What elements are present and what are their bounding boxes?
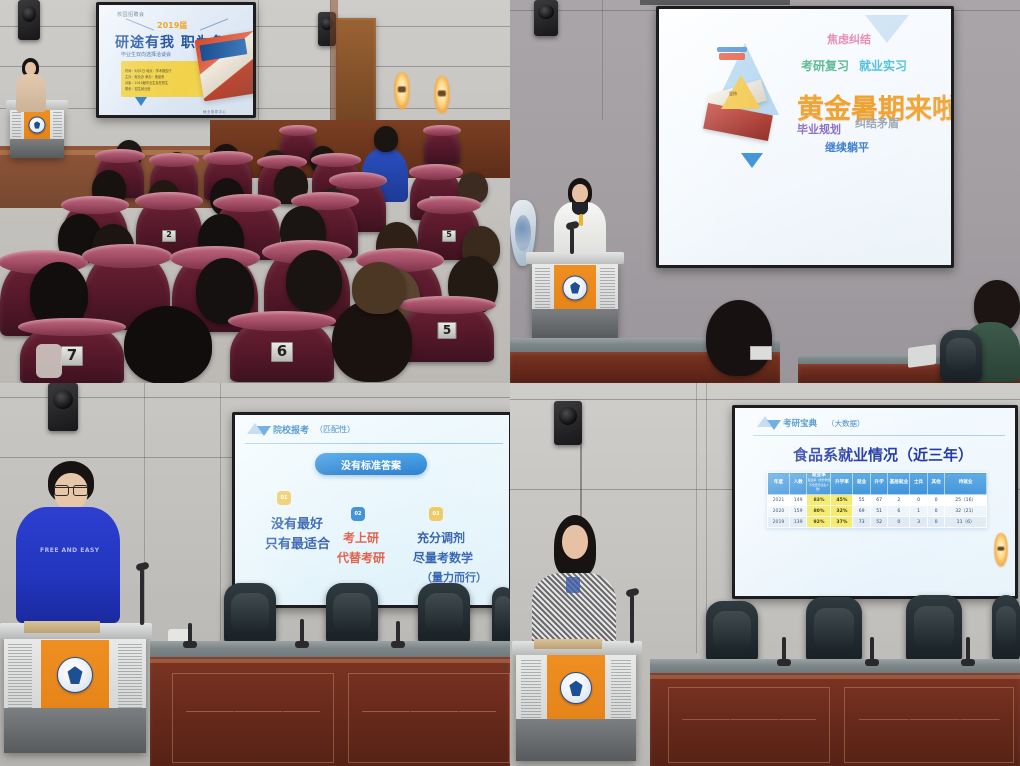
slide3-badge: 02 bbox=[351, 507, 365, 521]
stage-front bbox=[210, 120, 510, 178]
cell-soldier: 3 bbox=[910, 517, 928, 528]
col-employment-rate: 就业率 就业率（含升学但不含灵活就业人数） bbox=[807, 473, 831, 495]
col-other: 其他 bbox=[927, 473, 945, 495]
slide3-line: 充分调剂 bbox=[417, 529, 465, 546]
col-count: 人数 bbox=[789, 473, 807, 495]
office-chair bbox=[224, 583, 276, 645]
slide-school-selection: 院校报考 （匹配性） 没有标准答案 01 没有最好 只有最适合 02 考上研 代… bbox=[235, 415, 509, 605]
cell-year: 2021 bbox=[768, 495, 790, 506]
slide4-header: 考研宝典 bbox=[783, 417, 817, 429]
microphone-icon bbox=[188, 623, 192, 643]
slide4-header-note: （大数据） bbox=[827, 418, 865, 429]
seat-number-plate: 6 bbox=[271, 342, 293, 362]
employment-table: 年度 人数 就业率 就业率（含升学但不含灵活就业人数） 升学率 就业 升学 基层… bbox=[767, 472, 987, 528]
col-further-study: 升学 bbox=[870, 473, 888, 495]
cell-count: 159 bbox=[789, 506, 807, 517]
slide-golden-summer: 坚持 焦虑纠结 考研复习 就业实习 黄金暑期来啦！ 毕业规划 纠结矛盾 继续躺平 bbox=[659, 9, 951, 265]
wall-sconce-icon bbox=[994, 533, 1008, 567]
projection-screen: 坚持 焦虑纠结 考研复习 就业实习 黄金暑期来啦！ 毕业规划 纠结矛盾 继续躺平 bbox=[656, 6, 954, 268]
slide2-keyword: 焦虑纠结 bbox=[827, 31, 871, 47]
table-panel bbox=[668, 687, 830, 763]
cell-further-study-rate: 32% bbox=[831, 506, 853, 517]
cell-count: 149 bbox=[789, 495, 807, 506]
lectern-paper bbox=[534, 639, 602, 649]
microphone-icon bbox=[870, 637, 874, 661]
auditorium-seat bbox=[424, 128, 460, 164]
laptop bbox=[908, 344, 936, 368]
table-row: 2020 159 80% 32% 69 51 6 1 0 32（21） bbox=[768, 506, 987, 517]
name-badge bbox=[566, 577, 580, 593]
podium bbox=[532, 262, 618, 338]
cell-further-study: 52 bbox=[870, 517, 888, 528]
slide2-keyword: 继续躺平 bbox=[825, 139, 869, 155]
cell-employment-rate: 83% bbox=[807, 495, 831, 506]
ceiling-speaker-icon bbox=[534, 0, 558, 36]
cell-count: 139 bbox=[789, 517, 807, 528]
wall-socket-icon bbox=[750, 346, 772, 360]
panel-bottom-right: 考研宝典 （大数据） 食品系就业情况（近三年） 年度 bbox=[510, 383, 1020, 766]
table-row: 2021 149 83% 45% 55 67 2 0 0 25（16） bbox=[768, 495, 987, 506]
office-chair bbox=[418, 583, 470, 645]
cell-year: 2020 bbox=[768, 506, 790, 517]
cell-pending: 25（16） bbox=[945, 495, 987, 506]
screen-rail bbox=[640, 0, 790, 5]
ceiling-speaker-icon bbox=[48, 383, 78, 431]
speaker-cable bbox=[580, 443, 582, 523]
office-chair bbox=[906, 595, 962, 663]
slide3-line: 只有最适合 bbox=[265, 533, 330, 552]
table-header-row: 年度 人数 就业率 就业率（含升学但不含灵活就业人数） 升学率 就业 升学 基层… bbox=[768, 473, 987, 495]
pyramid-label: 坚持 bbox=[729, 91, 737, 97]
cell-grassroots: 0 bbox=[888, 517, 910, 528]
slide1-info-box: 时间：6月1日 地点：学术报告厅 主办：就业办 承办：食品系 对象：2019届毕… bbox=[121, 61, 205, 97]
cell-further-study: 51 bbox=[870, 506, 888, 517]
slide1-info-line: 对象：2019届毕业生及在校生 bbox=[125, 80, 201, 85]
slide3-line: 尽量考数学 bbox=[413, 549, 473, 566]
university-emblem-icon bbox=[560, 672, 592, 704]
slide3-badge: 03 bbox=[429, 507, 443, 521]
seat-number-plate: 2 bbox=[162, 230, 176, 242]
table-panel bbox=[172, 673, 334, 763]
wall-sconce-icon bbox=[434, 76, 450, 114]
slide-career-fair: 校园招聘会 2019届 研途有我 职为争你 毕业生双向选择洽谈会 时间：6月1日… bbox=[99, 5, 253, 115]
slide3-header-note: （匹配性） bbox=[315, 424, 355, 435]
col-employed: 就业 bbox=[853, 473, 871, 495]
hair-clip-icon bbox=[36, 344, 62, 378]
cell-soldier: 1 bbox=[910, 506, 928, 517]
ceiling-speaker-icon bbox=[18, 0, 40, 40]
microphone-icon bbox=[630, 595, 634, 643]
col-year: 年度 bbox=[768, 473, 790, 495]
cell-further-study: 67 bbox=[870, 495, 888, 506]
door-frame bbox=[330, 0, 338, 140]
slide1-info-line: 联系：招生就业处 bbox=[125, 86, 201, 91]
cell-other: 0 bbox=[927, 506, 945, 517]
lectern-paper bbox=[24, 621, 100, 633]
col-pending: 待就业 bbox=[945, 473, 987, 495]
microphone-icon bbox=[782, 637, 786, 661]
slide1-info-line: 时间：6月1日 地点：学术报告厅 bbox=[125, 68, 201, 73]
university-emblem-icon bbox=[57, 657, 93, 693]
seat-number-plate: 5 bbox=[442, 230, 456, 242]
cell-grassroots: 6 bbox=[888, 506, 910, 517]
photo-collage: 校园招聘会 2019届 研途有我 职为争你 毕业生双向选择洽谈会 时间：6月1日… bbox=[0, 0, 1020, 766]
podium bbox=[4, 635, 146, 753]
cell-other: 0 bbox=[927, 517, 945, 528]
table-panel bbox=[348, 673, 510, 763]
slide2-keyword: 纠结矛盾 bbox=[855, 115, 899, 131]
cell-further-study-rate: 37% bbox=[831, 517, 853, 528]
attendee-person bbox=[706, 300, 772, 376]
office-chair bbox=[992, 595, 1020, 661]
slide1-year: 2019届 bbox=[157, 20, 187, 31]
office-chair bbox=[806, 597, 862, 663]
office-chair bbox=[940, 330, 982, 382]
cell-employment-rate: 80% bbox=[807, 506, 831, 517]
cell-employment-rate: 92% bbox=[807, 517, 831, 528]
cell-further-study-rate: 45% bbox=[831, 495, 853, 506]
slide4-title: 食品系就业情况（近三年） bbox=[793, 444, 973, 465]
cell-year: 2019 bbox=[768, 517, 790, 528]
slide3-line: 没有最好 bbox=[271, 513, 323, 532]
table-row: 2019 139 92% 37% 73 52 0 3 0 11（6） bbox=[768, 517, 987, 528]
table-trim bbox=[150, 659, 510, 663]
slide1-triangle-icon bbox=[135, 97, 147, 106]
table-trim bbox=[650, 675, 1020, 679]
office-chair bbox=[492, 587, 510, 645]
slide2-keyword: 毕业规划 bbox=[797, 121, 841, 137]
slide3-badge: 01 bbox=[277, 491, 291, 505]
panel-top-left: 校园招聘会 2019届 研途有我 职为争你 毕业生双向选择洽谈会 时间：6月1日… bbox=[0, 0, 510, 383]
slide3-line: 代替考研 bbox=[337, 549, 385, 566]
slide2-keyword: 就业实习 bbox=[859, 57, 907, 74]
cell-employed: 55 bbox=[853, 495, 871, 506]
microphone-icon bbox=[570, 228, 574, 254]
slide1-footer: 就业指导中心 bbox=[203, 109, 226, 114]
microphone-icon bbox=[300, 619, 304, 643]
slide1-top-line: 校园招聘会 bbox=[117, 11, 145, 18]
cell-employed: 69 bbox=[853, 506, 871, 517]
presenter-person bbox=[14, 58, 48, 110]
presenter-person bbox=[532, 515, 616, 655]
podium bbox=[10, 108, 64, 158]
university-emblem-icon bbox=[29, 117, 46, 134]
auditorium-seat: 6 bbox=[230, 316, 334, 382]
slide3-pill: 没有标准答案 bbox=[315, 453, 427, 475]
auditorium-seat: 5 bbox=[400, 300, 494, 362]
cell-other: 0 bbox=[927, 495, 945, 506]
cell-soldier: 0 bbox=[910, 495, 928, 506]
university-emblem-icon bbox=[563, 275, 588, 300]
projection-screen: 院校报考 （匹配性） 没有标准答案 01 没有最好 只有最适合 02 考上研 代… bbox=[232, 412, 510, 608]
podium bbox=[516, 651, 636, 761]
office-chair bbox=[706, 601, 758, 663]
col-grassroots: 基层就业 bbox=[888, 473, 910, 495]
microphone-icon bbox=[140, 569, 144, 625]
seat-number-plate: 7 bbox=[61, 346, 83, 366]
slide-employment-data: 考研宝典 （大数据） 食品系就业情况（近三年） 年度 bbox=[735, 408, 1015, 596]
podium-top bbox=[526, 252, 624, 264]
cell-pending: 11（6） bbox=[945, 517, 987, 528]
ceiling-speaker-icon bbox=[554, 401, 582, 445]
projection-screen: 考研宝典 （大数据） 食品系就业情况（近三年） 年度 bbox=[732, 405, 1018, 599]
slide1-artwork bbox=[195, 31, 253, 102]
slide3-header: 院校报考 bbox=[273, 423, 309, 436]
projection-screen: 校园招聘会 2019届 研途有我 职为争你 毕业生双向选择洽谈会 时间：6月1日… bbox=[96, 2, 256, 118]
slide2-keyword: 考研复习 bbox=[801, 57, 849, 74]
col-soldier: 士兵 bbox=[910, 473, 928, 495]
col-further-study-rate: 升学率 bbox=[831, 473, 853, 495]
microphone-icon bbox=[396, 621, 400, 643]
cell-employed: 73 bbox=[853, 517, 871, 528]
cell-grassroots: 2 bbox=[888, 495, 910, 506]
panel-top-right: 坚持 焦虑纠结 考研复习 就业实习 黄金暑期来啦！ 毕业规划 纠结矛盾 继续躺平 bbox=[510, 0, 1020, 383]
wall-sconce-icon bbox=[394, 72, 410, 110]
microphone-icon bbox=[966, 637, 970, 661]
slide1-info-line: 主办：就业办 承办：食品系 bbox=[125, 74, 201, 79]
presenter-person: FREE AND EASY bbox=[16, 461, 120, 621]
slide1-subtitle: 毕业生双向选择洽谈会 bbox=[121, 51, 171, 58]
panel-bottom-left: 院校报考 （匹配性） 没有标准答案 01 没有最好 只有最适合 02 考上研 代… bbox=[0, 383, 510, 766]
shirt-text: FREE AND EASY bbox=[40, 547, 100, 554]
slide3-line: 考上研 bbox=[343, 529, 379, 546]
cell-pending: 32（21） bbox=[945, 506, 987, 517]
office-chair bbox=[326, 583, 378, 645]
hall-door bbox=[336, 18, 376, 136]
table-panel bbox=[844, 687, 1014, 763]
seat-number-plate: 5 bbox=[438, 322, 457, 339]
